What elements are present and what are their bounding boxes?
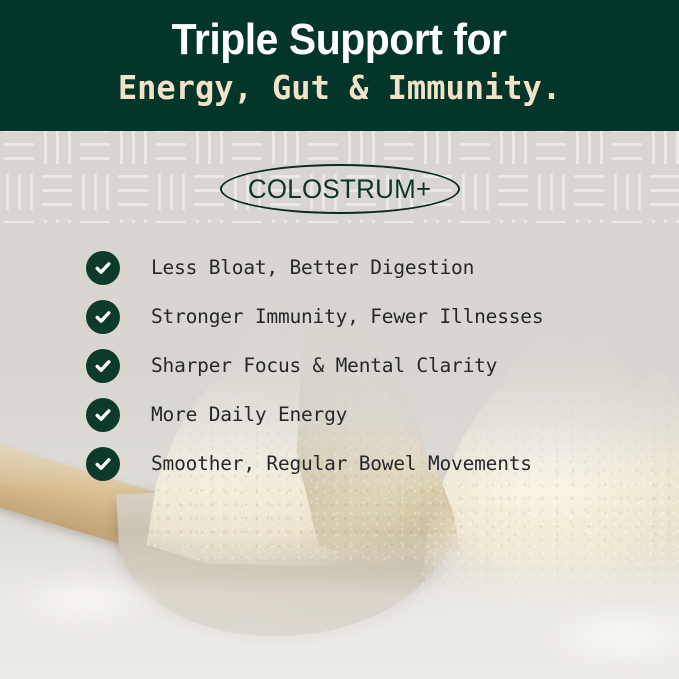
pattern-line-horizontal bbox=[384, 221, 414, 223]
benefit-row: Smoother, Regular Bowel Movements bbox=[86, 439, 656, 488]
pattern-tile bbox=[608, 169, 646, 215]
pattern-line-horizontal bbox=[574, 203, 604, 206]
pattern-line-horizontal bbox=[118, 189, 148, 192]
pattern-tile bbox=[608, 215, 646, 223]
benefit-label: Less Bloat, Better Digestion bbox=[151, 256, 474, 280]
pattern-line-horizontal bbox=[650, 175, 679, 178]
pattern-line-horizontal bbox=[232, 157, 262, 160]
pattern-line-vertical bbox=[68, 220, 71, 223]
pattern-line-horizontal bbox=[536, 131, 566, 132]
pattern-line-vertical bbox=[524, 220, 527, 223]
pattern-tile bbox=[456, 169, 494, 215]
pattern-tile bbox=[532, 215, 570, 223]
pattern-tile bbox=[494, 169, 532, 215]
pattern-line-vertical bbox=[360, 131, 363, 164]
pattern-line-vertical bbox=[474, 174, 477, 210]
pattern-line-horizontal bbox=[308, 157, 338, 160]
pattern-line-vertical bbox=[500, 220, 503, 223]
pattern-tile bbox=[456, 131, 494, 169]
pattern-line-vertical bbox=[220, 131, 223, 164]
check-icon bbox=[86, 398, 120, 432]
pattern-line-vertical bbox=[94, 174, 97, 210]
pattern-line-horizontal bbox=[536, 157, 566, 160]
pattern-line-vertical bbox=[448, 131, 451, 164]
pattern-tile bbox=[646, 169, 679, 215]
pattern-tile bbox=[646, 131, 679, 169]
pattern-line-horizontal bbox=[460, 143, 490, 146]
pattern-line-vertical bbox=[6, 174, 9, 210]
pattern-line-horizontal bbox=[4, 221, 34, 223]
pattern-line-vertical bbox=[44, 131, 47, 164]
pattern-line-vertical bbox=[486, 174, 489, 210]
pattern-line-vertical bbox=[120, 220, 123, 223]
pattern-line-vertical bbox=[664, 220, 667, 223]
pattern-line-horizontal bbox=[4, 131, 34, 132]
benefit-label: Stronger Immunity, Fewer Illnesses bbox=[151, 305, 543, 329]
pattern-line-horizontal bbox=[156, 221, 186, 223]
pattern-line-vertical bbox=[284, 220, 287, 223]
pattern-line-vertical bbox=[44, 220, 47, 223]
pattern-line-vertical bbox=[664, 131, 667, 164]
pattern-line-vertical bbox=[424, 131, 427, 164]
pattern-line-vertical bbox=[512, 220, 515, 223]
pattern-line-vertical bbox=[68, 131, 71, 164]
pattern-line-horizontal bbox=[42, 203, 72, 206]
pattern-line-horizontal bbox=[308, 131, 338, 132]
pattern-line-vertical bbox=[562, 174, 565, 210]
benefit-label: More Daily Energy bbox=[151, 403, 347, 427]
pattern-line-vertical bbox=[196, 131, 199, 164]
pattern-line-vertical bbox=[144, 131, 147, 164]
pattern-line-vertical bbox=[284, 131, 287, 164]
pattern-line-vertical bbox=[272, 131, 275, 164]
benefit-label: Smoother, Regular Bowel Movements bbox=[151, 452, 532, 476]
pattern-tile bbox=[570, 169, 608, 215]
pattern-line-horizontal bbox=[536, 143, 566, 146]
pattern-line-vertical bbox=[600, 131, 603, 164]
pattern-line-vertical bbox=[208, 220, 211, 223]
pattern-line-vertical bbox=[82, 174, 85, 210]
pattern-line-vertical bbox=[576, 131, 579, 164]
pattern-line-horizontal bbox=[232, 131, 262, 132]
pattern-line-horizontal bbox=[156, 131, 186, 132]
pattern-tile bbox=[570, 215, 608, 223]
pattern-line-vertical bbox=[512, 131, 515, 164]
check-icon bbox=[86, 251, 120, 285]
pattern-line-vertical bbox=[272, 220, 275, 223]
pattern-line-vertical bbox=[576, 220, 579, 223]
pattern-line-horizontal bbox=[80, 131, 110, 132]
pattern-tile bbox=[456, 215, 494, 223]
pattern-tile bbox=[228, 131, 266, 169]
pattern-line-vertical bbox=[144, 220, 147, 223]
pattern-line-vertical bbox=[424, 220, 427, 223]
pattern-line-vertical bbox=[18, 174, 21, 210]
pattern-line-horizontal bbox=[498, 203, 528, 206]
pattern-line-vertical bbox=[436, 220, 439, 223]
pattern-line-vertical bbox=[220, 220, 223, 223]
pattern-line-vertical bbox=[372, 131, 375, 164]
pattern-line-horizontal bbox=[156, 157, 186, 160]
pattern-tile bbox=[532, 169, 570, 215]
benefits-list: Less Bloat, Better DigestionStronger Imm… bbox=[86, 243, 656, 488]
pattern-line-vertical bbox=[348, 131, 351, 164]
pattern-line-vertical bbox=[296, 131, 299, 164]
pattern-line-vertical bbox=[296, 220, 299, 223]
check-icon bbox=[86, 300, 120, 334]
pattern-line-horizontal bbox=[80, 157, 110, 160]
pattern-line-vertical bbox=[132, 131, 135, 164]
pattern-line-horizontal bbox=[232, 221, 262, 223]
pattern-line-vertical bbox=[120, 131, 123, 164]
benefit-row: Less Bloat, Better Digestion bbox=[86, 243, 656, 292]
pattern-line-vertical bbox=[158, 174, 161, 210]
pattern-tile bbox=[418, 131, 456, 169]
pattern-line-vertical bbox=[182, 174, 185, 210]
pattern-tile bbox=[266, 215, 304, 223]
pattern-line-horizontal bbox=[80, 143, 110, 146]
header-band: Triple Support for Energy, Gut & Immunit… bbox=[0, 0, 679, 131]
pattern-line-horizontal bbox=[460, 157, 490, 160]
pattern-line-vertical bbox=[30, 174, 33, 210]
pattern-tile bbox=[342, 215, 380, 223]
pattern-tile bbox=[38, 169, 76, 215]
pattern-line-vertical bbox=[170, 174, 173, 210]
pattern-line-vertical bbox=[196, 220, 199, 223]
pattern-line-horizontal bbox=[156, 143, 186, 146]
pattern-line-vertical bbox=[588, 131, 591, 164]
pattern-tile bbox=[114, 131, 152, 169]
pattern-tile bbox=[570, 131, 608, 169]
pattern-tile bbox=[0, 131, 38, 169]
pattern-line-horizontal bbox=[384, 157, 414, 160]
pattern-tile bbox=[646, 215, 679, 223]
pattern-line-vertical bbox=[348, 220, 351, 223]
pattern-line-horizontal bbox=[612, 131, 642, 132]
pattern-line-horizontal bbox=[650, 189, 679, 192]
pattern-line-vertical bbox=[652, 220, 655, 223]
pattern-line-vertical bbox=[436, 131, 439, 164]
benefit-row: Stronger Immunity, Fewer Illnesses bbox=[86, 292, 656, 341]
pattern-tile bbox=[0, 169, 38, 215]
pattern-tile bbox=[304, 215, 342, 223]
pattern-tile bbox=[114, 215, 152, 223]
pattern-tile bbox=[228, 215, 266, 223]
page-title: Triple Support for bbox=[172, 14, 507, 66]
pattern-line-vertical bbox=[360, 220, 363, 223]
pattern-line-vertical bbox=[448, 220, 451, 223]
pattern-tile bbox=[76, 169, 114, 215]
pattern-tile bbox=[114, 169, 152, 215]
pattern-line-vertical bbox=[626, 174, 629, 210]
pattern-line-horizontal bbox=[612, 157, 642, 160]
pattern-line-horizontal bbox=[118, 203, 148, 206]
pattern-line-horizontal bbox=[308, 221, 338, 223]
pattern-tile bbox=[152, 169, 190, 215]
pattern-line-horizontal bbox=[574, 189, 604, 192]
benefit-label: Sharper Focus & Mental Clarity bbox=[151, 354, 497, 378]
colostrum-badge: COLOSTRUM+ bbox=[220, 164, 460, 214]
pattern-tile bbox=[266, 131, 304, 169]
pattern-line-horizontal bbox=[194, 203, 224, 206]
check-icon bbox=[86, 349, 120, 383]
pattern-line-horizontal bbox=[80, 221, 110, 223]
pattern-tile bbox=[380, 131, 418, 169]
pattern-tile bbox=[76, 215, 114, 223]
pattern-line-horizontal bbox=[498, 189, 528, 192]
check-icon bbox=[86, 447, 120, 481]
benefit-row: More Daily Energy bbox=[86, 390, 656, 439]
pattern-line-vertical bbox=[372, 220, 375, 223]
pattern-line-vertical bbox=[652, 131, 655, 164]
pattern-line-vertical bbox=[500, 131, 503, 164]
page-subtitle: Energy, Gut & Immunity. bbox=[118, 68, 561, 108]
dust-highlight-left bbox=[10, 571, 160, 631]
pattern-line-horizontal bbox=[118, 175, 148, 178]
pattern-line-horizontal bbox=[308, 143, 338, 146]
colostrum-badge-label: COLOSTRUM+ bbox=[248, 174, 432, 204]
pattern-line-horizontal bbox=[460, 221, 490, 223]
pattern-line-horizontal bbox=[612, 221, 642, 223]
pattern-tile bbox=[38, 131, 76, 169]
pattern-line-horizontal bbox=[536, 221, 566, 223]
pattern-tile bbox=[190, 215, 228, 223]
pattern-line-vertical bbox=[614, 174, 617, 210]
pattern-line-vertical bbox=[462, 174, 465, 210]
pattern-line-vertical bbox=[56, 220, 59, 223]
pattern-tile bbox=[418, 215, 456, 223]
pattern-line-vertical bbox=[588, 220, 591, 223]
pattern-line-vertical bbox=[524, 131, 527, 164]
pattern-tile bbox=[494, 215, 532, 223]
pattern-tile bbox=[0, 215, 38, 223]
pattern-tile bbox=[190, 131, 228, 169]
pattern-tile bbox=[152, 131, 190, 169]
pattern-line-vertical bbox=[56, 131, 59, 164]
pattern-line-horizontal bbox=[194, 175, 224, 178]
pattern-line-vertical bbox=[538, 174, 541, 210]
pattern-line-vertical bbox=[208, 131, 211, 164]
pattern-line-horizontal bbox=[232, 143, 262, 146]
pattern-line-horizontal bbox=[4, 157, 34, 160]
pattern-line-vertical bbox=[638, 174, 641, 210]
pattern-line-vertical bbox=[550, 174, 553, 210]
pattern-line-horizontal bbox=[612, 143, 642, 146]
pattern-line-vertical bbox=[106, 174, 109, 210]
pattern-tile bbox=[380, 215, 418, 223]
product-benefit-poster: Triple Support for Energy, Gut & Immunit… bbox=[0, 0, 679, 679]
pattern-line-horizontal bbox=[650, 203, 679, 206]
pattern-line-horizontal bbox=[42, 175, 72, 178]
pattern-tile bbox=[38, 215, 76, 223]
pattern-line-vertical bbox=[600, 220, 603, 223]
pattern-tile bbox=[76, 131, 114, 169]
pattern-line-horizontal bbox=[42, 189, 72, 192]
pattern-line-horizontal bbox=[4, 143, 34, 146]
pattern-line-horizontal bbox=[498, 175, 528, 178]
pattern-tile bbox=[608, 131, 646, 169]
pattern-line-horizontal bbox=[574, 175, 604, 178]
pattern-line-horizontal bbox=[460, 131, 490, 132]
pattern-tile bbox=[152, 215, 190, 223]
pattern-tile bbox=[532, 131, 570, 169]
pattern-line-horizontal bbox=[384, 143, 414, 146]
pattern-line-horizontal bbox=[384, 131, 414, 132]
pattern-line-vertical bbox=[132, 220, 135, 223]
pattern-tile bbox=[494, 131, 532, 169]
benefit-row: Sharper Focus & Mental Clarity bbox=[86, 341, 656, 390]
